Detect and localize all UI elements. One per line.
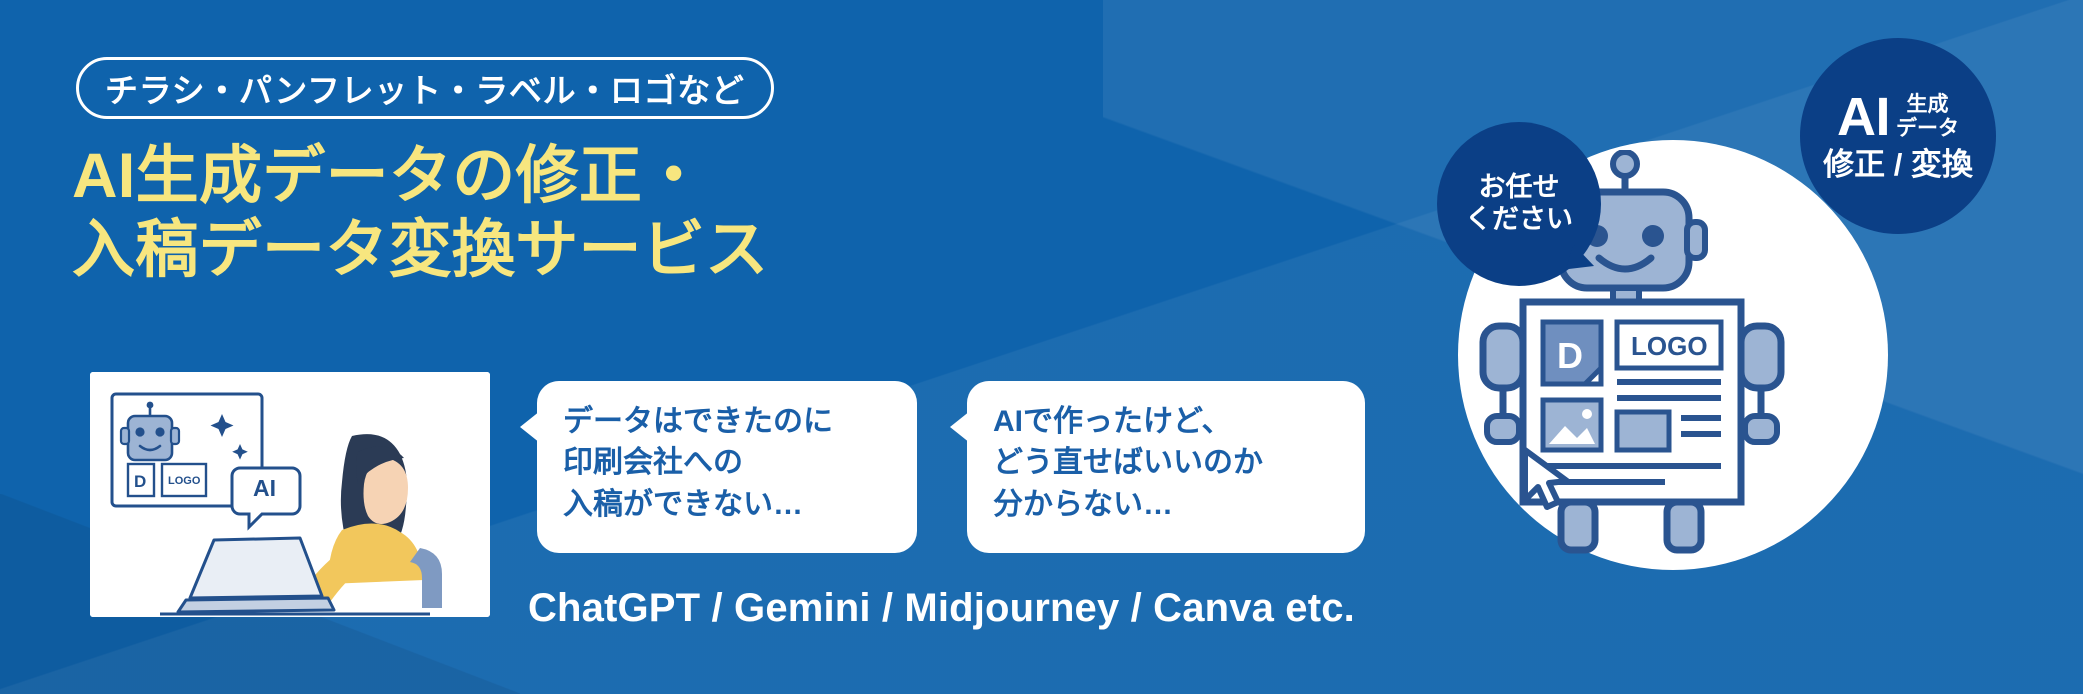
svg-text:D: D — [134, 472, 146, 491]
badge-right-sub-2: データ — [1896, 117, 1959, 141]
bubble-tail — [520, 411, 540, 443]
badge-ai-convert: AI 生成 データ 修正 / 変換 — [1800, 38, 1996, 234]
badge-left-line-2: ください — [1465, 204, 1573, 236]
svg-text:LOGO: LOGO — [1631, 331, 1708, 361]
svg-text:AI: AI — [253, 475, 276, 501]
badge-ai-label: AI — [1837, 90, 1890, 144]
bubble-2-line-2: どう直せばいいのか — [993, 442, 1339, 483]
woman-at-laptop-illustration: D LOGO AI — [90, 372, 490, 617]
pain-point-bubble-1: データはできたのに 印刷会社への 入稿ができない… — [537, 381, 917, 553]
badge-left-line-1: お任せ — [1479, 172, 1560, 204]
pain-point-bubble-2: AIで作ったけど、 どう直せばいいのか 分からない… — [967, 381, 1365, 553]
promo-banner: チラシ・パンフレット・ラベル・ロゴなど AI生成データの修正・ 入稿データ変換サ… — [0, 0, 2083, 694]
supported-tools-label: ChatGPT / Gemini / Midjourney / Canva et… — [528, 586, 1355, 631]
bubble-2-line-3: 分からない… — [993, 484, 1339, 525]
badge-ai-subtext: 生成 データ — [1896, 93, 1959, 142]
badge-right-sub-1: 生成 — [1896, 93, 1959, 117]
headline-line-2: 入稿データ変換サービス — [72, 214, 768, 288]
bubble-1-line-1: データはできたのに — [563, 401, 891, 442]
bubble-2-line-1: AIで作ったけど、 — [993, 401, 1339, 442]
badge-right-top-row: AI 生成 データ — [1837, 90, 1959, 144]
category-pill: チラシ・パンフレット・ラベル・ロゴなど — [76, 57, 774, 119]
category-pill-label: チラシ・パンフレット・ラベル・ロゴなど — [105, 64, 745, 112]
illustration-card: D LOGO AI — [90, 372, 490, 617]
bubble-1-line-3: 入稿ができない… — [563, 484, 891, 525]
badge-leave-it-to-us: お任せ ください — [1437, 122, 1601, 286]
svg-text:LOGO: LOGO — [168, 475, 201, 487]
bubble-tail — [950, 411, 970, 443]
left-content: チラシ・パンフレット・ラベル・ロゴなど AI生成データの修正・ 入稿データ変換サ… — [0, 0, 1180, 694]
badge-right-bottom: 修正 / 変換 — [1823, 148, 1973, 182]
page-title: AI生成データの修正・ 入稿データ変換サービス — [72, 140, 768, 287]
headline-line-1: AI生成データの修正・ — [72, 141, 705, 211]
svg-text:D: D — [1557, 335, 1583, 376]
bubble-1-line-2: 印刷会社への — [563, 442, 891, 483]
